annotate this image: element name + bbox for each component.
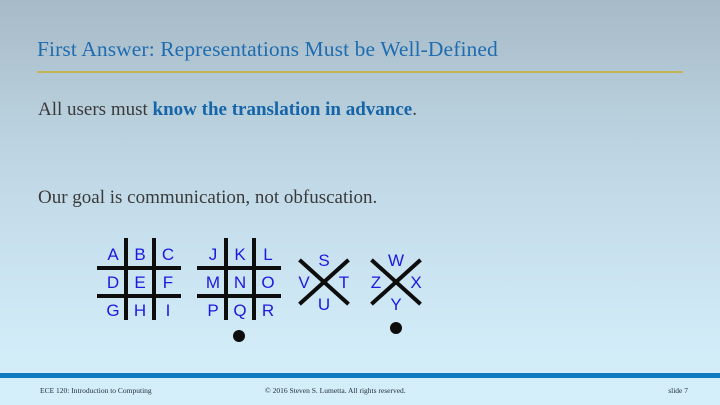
cipher-x-letter-bottom: Y — [386, 296, 406, 313]
body-text-tail: . — [412, 99, 417, 120]
cipher-cell-letter: O — [257, 274, 279, 291]
cipher-dot-marker — [390, 322, 402, 334]
cipher-x-letter-left: V — [294, 274, 314, 291]
cipher-cell-letter: G — [102, 302, 124, 319]
grid-line-horizontal-top — [97, 266, 181, 270]
footer-copyright-label: © 2016 Steven S. Lumetta. All rights res… — [265, 386, 406, 395]
cipher-x-letter-right: X — [406, 274, 426, 291]
grid-line-vertical-left — [224, 238, 228, 320]
cipher-cell-letter: R — [257, 302, 279, 319]
cipher-x-letter-top: S — [314, 252, 334, 269]
page-title: First Answer: Representations Must be We… — [37, 37, 685, 62]
cipher-cell-letter: A — [102, 246, 124, 263]
x-glyph-lines: S V T U — [295, 252, 353, 312]
body-text-emphasis: know the translation in advance — [153, 99, 413, 120]
grid-line-horizontal-bottom — [97, 294, 181, 298]
cipher-cell-letter: J — [202, 246, 224, 263]
grid-glyph-lines: A B C D E F G H I — [97, 238, 181, 320]
cipher-x-letter-bottom: U — [314, 296, 334, 313]
slide-canvas: First Answer: Representations Must be We… — [0, 0, 720, 405]
body-paragraph-first: All users must know the translation in a… — [38, 98, 468, 122]
grid-line-vertical-right — [252, 238, 256, 320]
grid-glyph-lines: J K L M N O P Q R — [197, 238, 281, 320]
grid-line-horizontal-bottom — [197, 294, 281, 298]
cipher-x-letter-top: W — [386, 252, 406, 269]
grid-line-horizontal-top — [197, 266, 281, 270]
x-glyph-lines: W Z X Y — [367, 252, 425, 312]
cipher-cell-letter: C — [157, 246, 179, 263]
cipher-cell-letter: E — [129, 274, 151, 291]
cipher-dot-marker — [233, 330, 245, 342]
cipher-x-letter-left: Z — [366, 274, 386, 291]
pigpen-cipher-diagram: A B C D E F G H I J K L M — [85, 238, 445, 353]
cipher-cell-letter: B — [129, 246, 151, 263]
cipher-cell-letter: K — [229, 246, 251, 263]
cipher-cell-letter: P — [202, 302, 224, 319]
cipher-cell-letter: N — [229, 274, 251, 291]
title-block: First Answer: Representations Must be We… — [37, 37, 685, 62]
cipher-x-letter-right: T — [334, 274, 354, 291]
body-paragraph-second: Our goal is communication, not obfuscati… — [38, 186, 598, 210]
cipher-cell-letter: M — [202, 274, 224, 291]
body-text-lead: All users must — [38, 99, 153, 120]
cipher-cell-letter: D — [102, 274, 124, 291]
cipher-cell-letter: F — [157, 274, 179, 291]
footer-course-label: ECE 120: Introduction to Computing — [40, 386, 152, 395]
grid-line-vertical-left — [124, 238, 128, 320]
grid-line-vertical-right — [152, 238, 156, 320]
footer: ECE 120: Introduction to Computing © 201… — [0, 381, 720, 405]
cipher-cell-letter: I — [157, 302, 179, 319]
footer-accent-band — [0, 373, 720, 378]
cipher-cell-letter: L — [257, 246, 279, 263]
title-divider-rule — [37, 71, 683, 73]
cipher-cell-letter: H — [129, 302, 151, 319]
footer-slide-number: slide 7 — [668, 386, 688, 395]
cipher-cell-letter: Q — [229, 302, 251, 319]
